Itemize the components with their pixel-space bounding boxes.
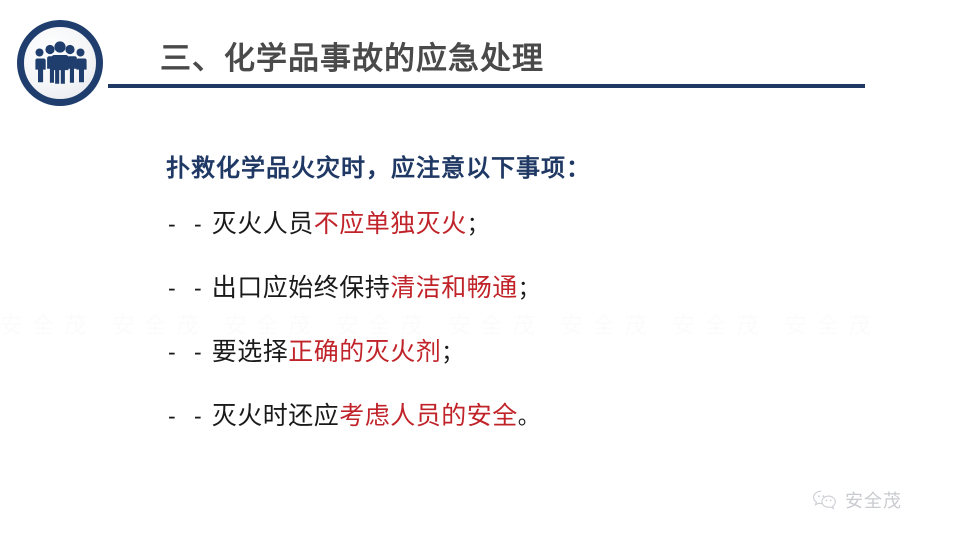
list-item: - - 灭火时还应 考虑人员的安全 。 [168,396,928,460]
bullet-text-punctuation: ； [467,207,489,239]
bullet-text-plain: 灭火时还应 [212,396,340,432]
bullet-dash-marker: - - [168,275,208,302]
slide-canvas: 三、化学品事故的应急处理 扑救化学品火灾时，应注意以下事项： - - 灭火人员 … [0,0,960,540]
bullet-dash-marker: - - [168,403,208,430]
background-watermark-band: 安全茂 安全茂 安全茂 安全茂 安全茂 安全茂 安全茂 安全茂 [0,312,960,340]
bullet-text-punctuation: 。 [518,399,540,431]
header-divider [108,84,865,88]
bullet-dash-marker: - - [168,339,208,366]
slide-header: 三、化学品事故的应急处理 [0,0,960,110]
wechat-icon [812,489,838,511]
wechat-watermark-label: 安全茂 [845,487,902,513]
lead-heading: 扑救化学品火灾时，应注意以下事项： [166,148,591,183]
bullet-text-plain: 出口应始终保持 [212,268,391,304]
bullet-text-highlight: 考虑人员的安全 [339,396,518,432]
list-item: - - 灭火人员 不应单独灭火 ； [168,204,928,268]
wechat-watermark: 安全茂 [812,487,902,513]
bullet-text-punctuation: ； [518,271,540,303]
page-title: 三、化学品事故的应急处理 [160,33,544,78]
bullet-text-plain: 灭火人员 [212,204,314,240]
bullet-dash-marker: - - [168,211,208,238]
list-item: - - 要选择 正确的灭火剂 ； [168,332,928,396]
group-of-people-icon [17,20,103,106]
bullet-text-highlight: 不应单独灭火 [314,204,467,240]
bullet-text-highlight: 清洁和畅通 [390,268,518,304]
